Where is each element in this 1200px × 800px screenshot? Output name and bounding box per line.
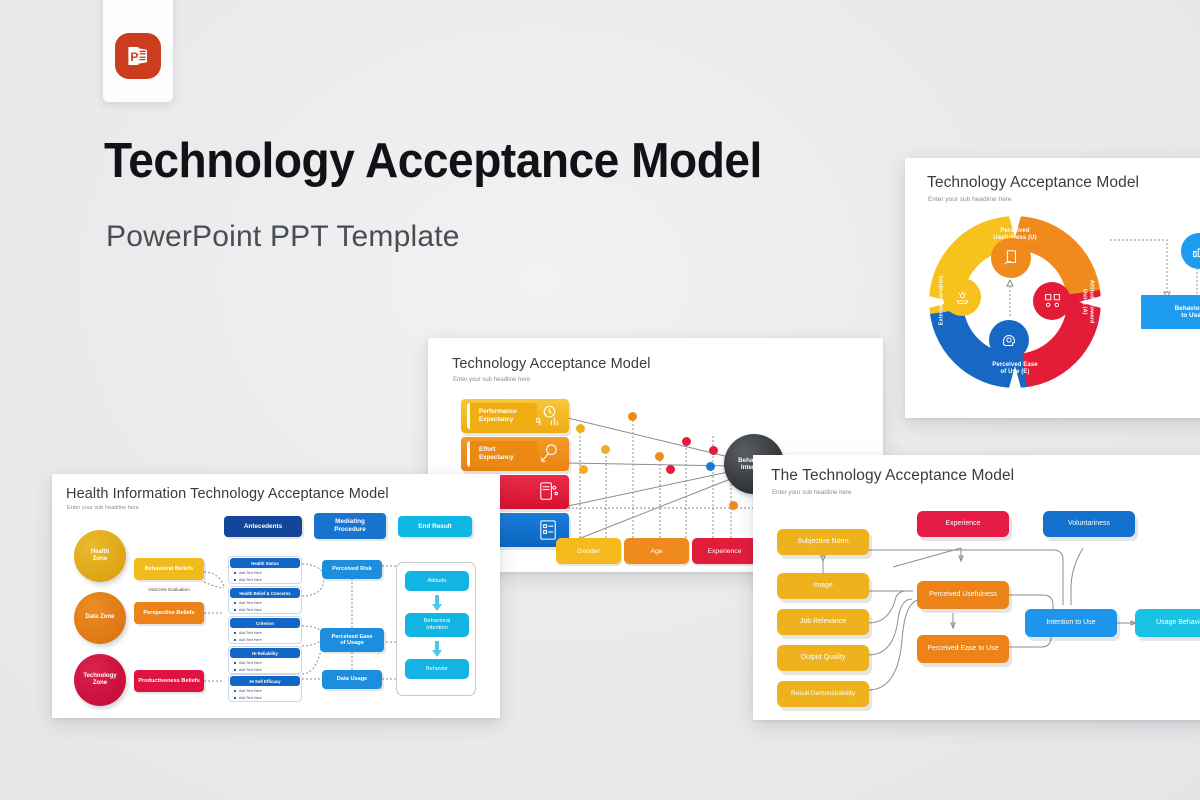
card-title: Criterion (230, 618, 300, 628)
outflow-behavioral-arrow: Behavioral to Use (1141, 295, 1200, 329)
card-item: Add Text Here (229, 666, 301, 673)
zone-technology: Technology Zone (74, 654, 126, 706)
column-header-mediating-procedure: Mediating Procedure (314, 513, 386, 539)
card-item: Add Text Here (229, 576, 301, 583)
bar-chart-icon (1181, 233, 1200, 269)
tam-node-output-quality: Output Quality (777, 645, 869, 671)
tam-donut: Perceived Usefulness (U) Perceived Ease … (929, 216, 1101, 388)
slide-subtitle: Enter your sub headline here (772, 489, 851, 496)
head-gear-icon (989, 320, 1029, 360)
slide-title: The Technology Acceptance Model (771, 467, 1014, 485)
slide-preview-tam-extended[interactable]: The Technology Acceptance Model Enter yo… (753, 455, 1200, 720)
moderator-gender: Gender (556, 538, 621, 564)
card-item: Add Text Here (229, 694, 301, 701)
tam-node-perceived-ease-to-use: Perceived Ease to Use (917, 635, 1009, 663)
tam-node-usage-behavior: Usage Behavior (1135, 609, 1200, 637)
belief-productiveness: Productiveness Beliefs (134, 670, 204, 692)
down-arrow-icon (430, 641, 444, 657)
antecedent-card: Health Belief & Concerns Add Text Here A… (228, 586, 302, 614)
moderator-age: Age (624, 538, 689, 564)
tam-node-voluntariness: Voluntariness (1043, 511, 1135, 537)
page-subtitle: PowerPoint PPT Template (106, 220, 460, 254)
path-dot (706, 462, 715, 471)
tam-node-experience: Experience (917, 511, 1009, 537)
hand-tablet-icon (991, 238, 1031, 278)
segment-label-perceived-ease: Perceived Ease of Use (E) (979, 362, 1051, 376)
end-result-behavioral-intention: Behavioral Intention (405, 613, 469, 637)
belief-behavioral: Behavioral Beliefs (134, 558, 204, 580)
column-header-antecedents: Antecedents (224, 516, 302, 537)
powerpoint-file-card: P (103, 0, 173, 102)
path-dot (579, 465, 588, 474)
slide-title: Health Information Technology Acceptance… (66, 486, 389, 502)
powerpoint-icon: P (115, 33, 161, 79)
belief-perspective: Perspective Beliefs (134, 602, 204, 624)
segment-label-attitude-toward-using: Attitude Toward Using (A) (1081, 267, 1094, 337)
mobile-social-icon (536, 480, 561, 505)
card-item: Add Text Here (229, 599, 301, 606)
tam-node-result-demonstrability: Result Demonstrability (777, 681, 869, 707)
tam-node-perceived-usefulness: Perceived Usefulness (917, 581, 1009, 609)
end-result-attitude: Attitude (405, 571, 469, 591)
slide-subtitle: Enter your sub headline here (928, 196, 1011, 203)
antecedent-card: Health Status Add Text Here Add Text Her… (228, 556, 302, 584)
end-result-panel: Attitude Behavioral Intention Behavior (396, 562, 476, 696)
card-item: Add Text Here (229, 636, 301, 643)
tam-node-image: Image (777, 573, 869, 599)
card-title: Health Belief & Concerns (230, 588, 300, 598)
card-item: Add Text Here (229, 687, 301, 694)
row-label: Effort Expectancy (467, 441, 537, 467)
end-result-behavior: Behavior (405, 659, 469, 679)
svg-text:P: P (130, 50, 138, 64)
card-item: Add Text Here (229, 629, 301, 636)
path-dot (576, 424, 585, 433)
utaut-row-performance-expectancy: Performance Expectancy (461, 399, 569, 433)
utaut-row-effort-expectancy: Effort Expectancy (461, 437, 569, 471)
card-item: Add Text Here (229, 606, 301, 613)
mediating-perceived-risk: Perceived Risk (322, 560, 382, 579)
hands-idea-icon (943, 278, 981, 316)
team-network-icon (1033, 282, 1071, 320)
path-dot (601, 445, 610, 454)
belief-note: Outcome Evaluation (134, 587, 204, 592)
path-dot (628, 412, 637, 421)
poster-canvas: P Technology Acceptance Model PowerPoint… (0, 0, 1200, 800)
slide-title: Technology Acceptance Model (452, 356, 651, 372)
path-dot (655, 452, 664, 461)
path-dot (729, 501, 738, 510)
row-label: Performance Expectancy (467, 403, 537, 429)
mediating-perceived-ease-of-usage: Perceived Ease of Usage (320, 628, 384, 652)
card-item: Add Text Here (229, 659, 301, 666)
tam-node-job-relevance: Job Relevance (777, 609, 869, 635)
mediating-data-usage: Data Usage (322, 670, 382, 689)
tam-node-subjective-norm: Subjective Norm (777, 529, 869, 555)
card-title: Health Status (230, 558, 300, 568)
zone-data: Data Zone (74, 592, 126, 644)
tam-node-intention-to-use: Intention to Use (1025, 609, 1117, 637)
moderator-experience: Experience (692, 538, 757, 564)
zone-health: Health Zone (74, 530, 126, 582)
path-dot (666, 465, 675, 474)
idea-bulb-icon (536, 442, 561, 467)
column-header-end-result: End Result (398, 516, 472, 537)
slide-preview-circular-tam[interactable]: Technology Acceptance Model Enter your s… (905, 158, 1200, 418)
card-title: HI Reliability (230, 648, 300, 658)
slide-subtitle: Enter your sub headline here (453, 377, 530, 383)
antecedent-card: HI Self Efficacy Add Text Here Add Text … (228, 674, 302, 702)
slide-subtitle: Enter your sub headline here (67, 505, 139, 511)
path-dot (682, 437, 691, 446)
slide-title: Technology Acceptance Model (927, 174, 1139, 192)
card-title: HI Self Efficacy (230, 676, 300, 686)
slide-preview-health-tam[interactable]: Health Information Technology Acceptance… (52, 474, 500, 718)
antecedent-card: HI Reliability Add Text Here Add Text He… (228, 646, 302, 674)
path-dot (709, 446, 718, 455)
page-title: Technology Acceptance Model (104, 136, 762, 188)
card-item: Add Text Here (229, 569, 301, 576)
antecedent-card: Criterion Add Text Here Add Text Here (228, 616, 302, 644)
clock-growth-icon (536, 404, 561, 429)
down-arrow-icon (430, 595, 444, 611)
